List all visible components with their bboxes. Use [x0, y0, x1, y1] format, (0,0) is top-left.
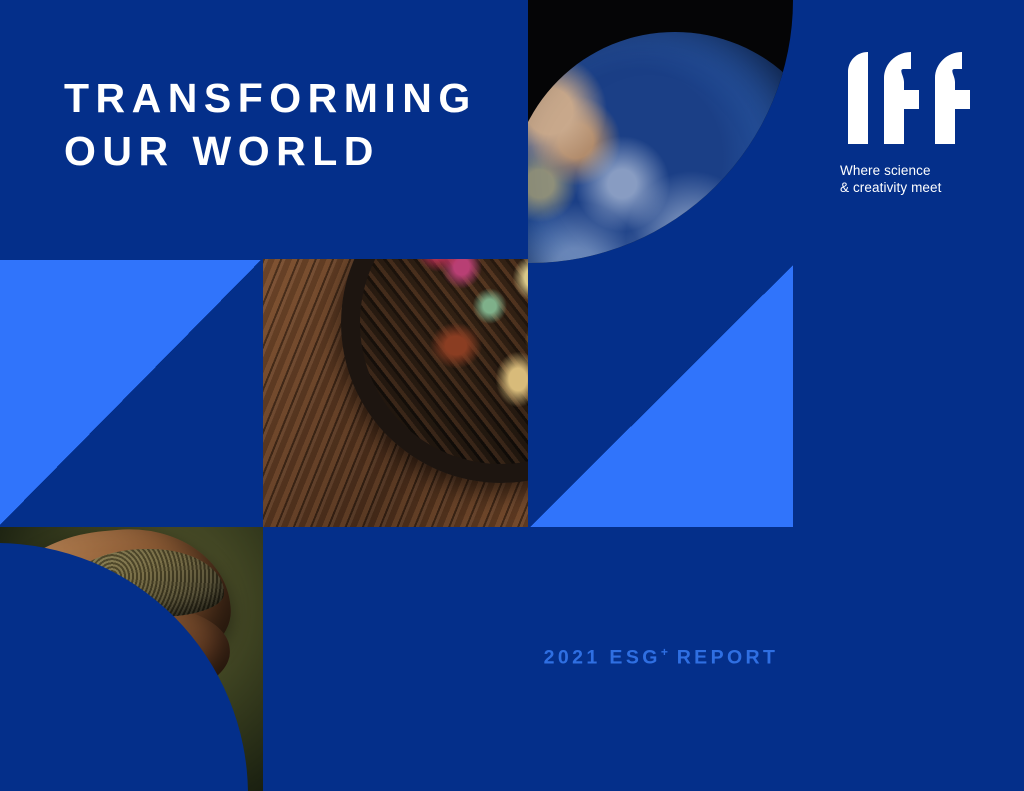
page-title-line-2: OUR WORLD [64, 125, 524, 178]
page-title: TRANSFORMING OUR WORLD [64, 72, 524, 178]
earth-globe-image [528, 32, 793, 263]
page-title-line-1: TRANSFORMING [64, 72, 524, 125]
tea-bowl-panel [263, 259, 528, 527]
report-label-superscript: + [661, 645, 668, 659]
report-label-suffix: REPORT [668, 647, 778, 669]
triangle-panel-left [0, 260, 263, 527]
report-label: 2021 ESG+ REPORT [528, 645, 794, 670]
report-cover: TRANSFORMING OUR WORLD Where science & c… [0, 0, 1024, 791]
report-label-prefix: 2021 ESG [544, 647, 661, 669]
dried-tea-leaves [360, 259, 528, 464]
iff-logo: Where science & creativity meet [840, 52, 990, 196]
earth-panel [528, 0, 793, 263]
iff-wordmark-icon [840, 52, 970, 144]
iff-tagline-line-1: Where science [840, 162, 990, 179]
soil-hands-panel [0, 527, 263, 791]
iff-tagline-line-2: & creativity meet [840, 179, 990, 196]
triangle-panel-right [528, 263, 793, 527]
iff-tagline: Where science & creativity meet [840, 162, 990, 196]
